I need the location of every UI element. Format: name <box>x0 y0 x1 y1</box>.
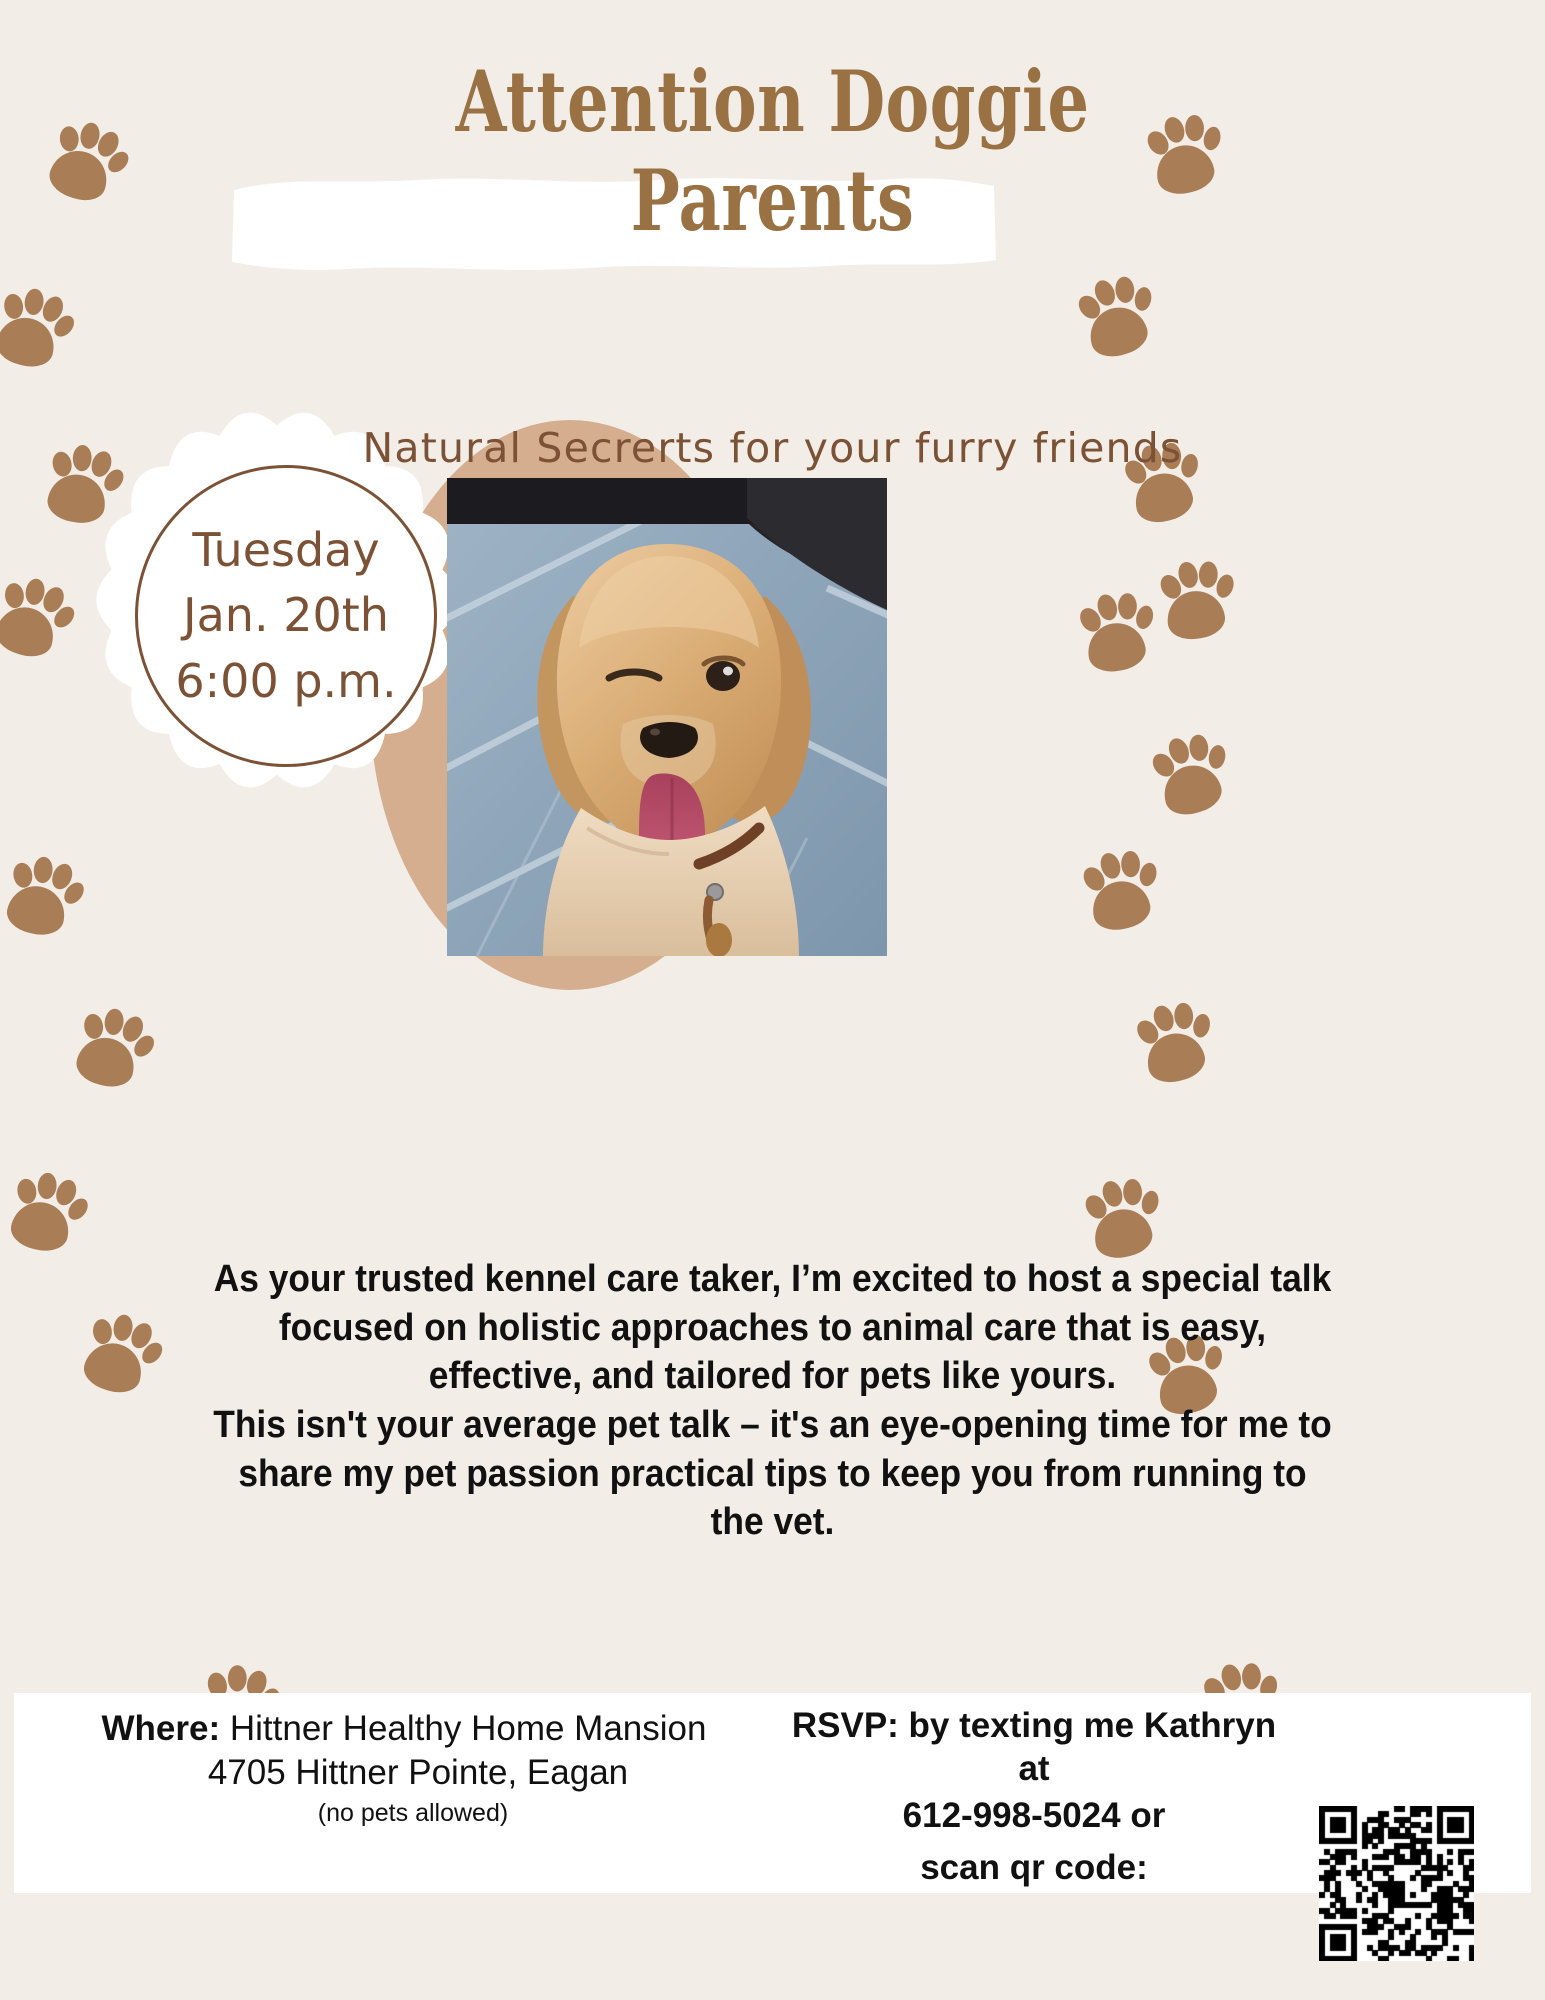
paw-toe <box>1118 593 1137 619</box>
paw-pad <box>7 1197 73 1255</box>
paw-toe <box>4 582 25 609</box>
paw-toe <box>33 856 54 884</box>
body-paragraph-1: As your trusted kennel care taker, I’m e… <box>208 1255 1338 1401</box>
paw-toe <box>59 126 79 152</box>
paw-toe <box>1121 851 1141 878</box>
rsvp-block: RSVP: by texting me Kathryn at 612-998-5… <box>774 1705 1294 1894</box>
paw-toe <box>1123 1179 1143 1206</box>
paw-toe <box>1133 286 1153 312</box>
paw-toe <box>15 1177 38 1205</box>
paw-toe <box>1191 1012 1212 1039</box>
where-address: 4705 Hittner Pointe, Eagan <box>24 1750 784 1796</box>
paw-print-icon <box>1134 992 1224 1090</box>
dog-photo <box>447 478 887 956</box>
paw-toe <box>1207 744 1227 770</box>
where-venue-line: Where: Hittner Healthy Home Mansion <box>24 1709 784 1750</box>
title-line-1: Attention Doggie <box>170 52 1375 151</box>
paw-toe <box>1173 1002 1194 1029</box>
paw-toe <box>3 293 25 320</box>
body-paragraph-2: This isn't your average pet talk – it's … <box>208 1401 1338 1547</box>
poster-canvas: Attention Doggie Parents Natural Secrert… <box>0 0 1545 2000</box>
rsvp-scan-prompt: scan qr code: <box>774 1843 1294 1894</box>
paw-toe <box>1188 734 1209 762</box>
paw-print-icon <box>1159 553 1242 645</box>
paw-toe <box>228 1665 247 1692</box>
title-line-2: Parents <box>170 151 1375 250</box>
paw-toe <box>1242 1663 1261 1689</box>
date-badge-day: Tuesday <box>192 518 379 583</box>
page-title: Attention Doggie Parents <box>170 52 1375 250</box>
where-note: (no pets allowed) <box>24 1795 784 1833</box>
date-badge-date: Jan. 20th <box>183 583 389 648</box>
paw-print-icon <box>1149 723 1241 822</box>
paw-toe <box>1137 861 1159 888</box>
qr-code[interactable] <box>1319 1806 1474 1961</box>
paw-print-icon <box>79 1305 171 1404</box>
paw-print-icon <box>1081 841 1169 937</box>
paw-print-icon <box>0 569 83 668</box>
where-label: Where: <box>102 1709 221 1748</box>
paw-toe <box>37 1172 58 1200</box>
paw-toe <box>1134 604 1156 631</box>
paw-toe <box>92 1318 113 1345</box>
paw-print-icon <box>72 1000 162 1098</box>
paw-print-icon <box>1075 265 1167 364</box>
footer-panel: Where: Hittner Healthy Home Mansion 4705… <box>14 1693 1531 1893</box>
where-block: Where: Hittner Healthy Home Mansion 4705… <box>24 1709 784 1833</box>
paw-print-icon <box>1078 584 1164 678</box>
paw-print-icon <box>0 280 82 378</box>
paw-pad <box>3 881 69 939</box>
subtitle: Natural Secrerts for your furry friends <box>0 424 1545 472</box>
date-badge: Tuesday Jan. 20th 6:00 p.m. <box>135 465 437 767</box>
paw-toe <box>11 861 34 889</box>
date-badge-time: 6:00 p.m. <box>175 649 396 714</box>
rsvp-instruction: RSVP: by texting me Kathryn at <box>774 1705 1294 1790</box>
paw-print-icon <box>7 1165 95 1261</box>
paw-print-icon <box>44 113 138 214</box>
where-venue: Hittner Healthy Home Mansion <box>230 1709 707 1748</box>
paw-toe <box>1114 276 1135 304</box>
body-copy: As your trusted kennel care taker, I’m e… <box>208 1255 1338 1547</box>
paw-toe <box>83 1013 105 1040</box>
paw-print-icon <box>1083 1169 1171 1265</box>
rsvp-phone-number[interactable]: 612-998-5024 or <box>774 1790 1294 1843</box>
paw-toe <box>1139 1189 1161 1216</box>
paw-toe <box>1198 561 1218 588</box>
paw-print-icon <box>3 849 91 945</box>
